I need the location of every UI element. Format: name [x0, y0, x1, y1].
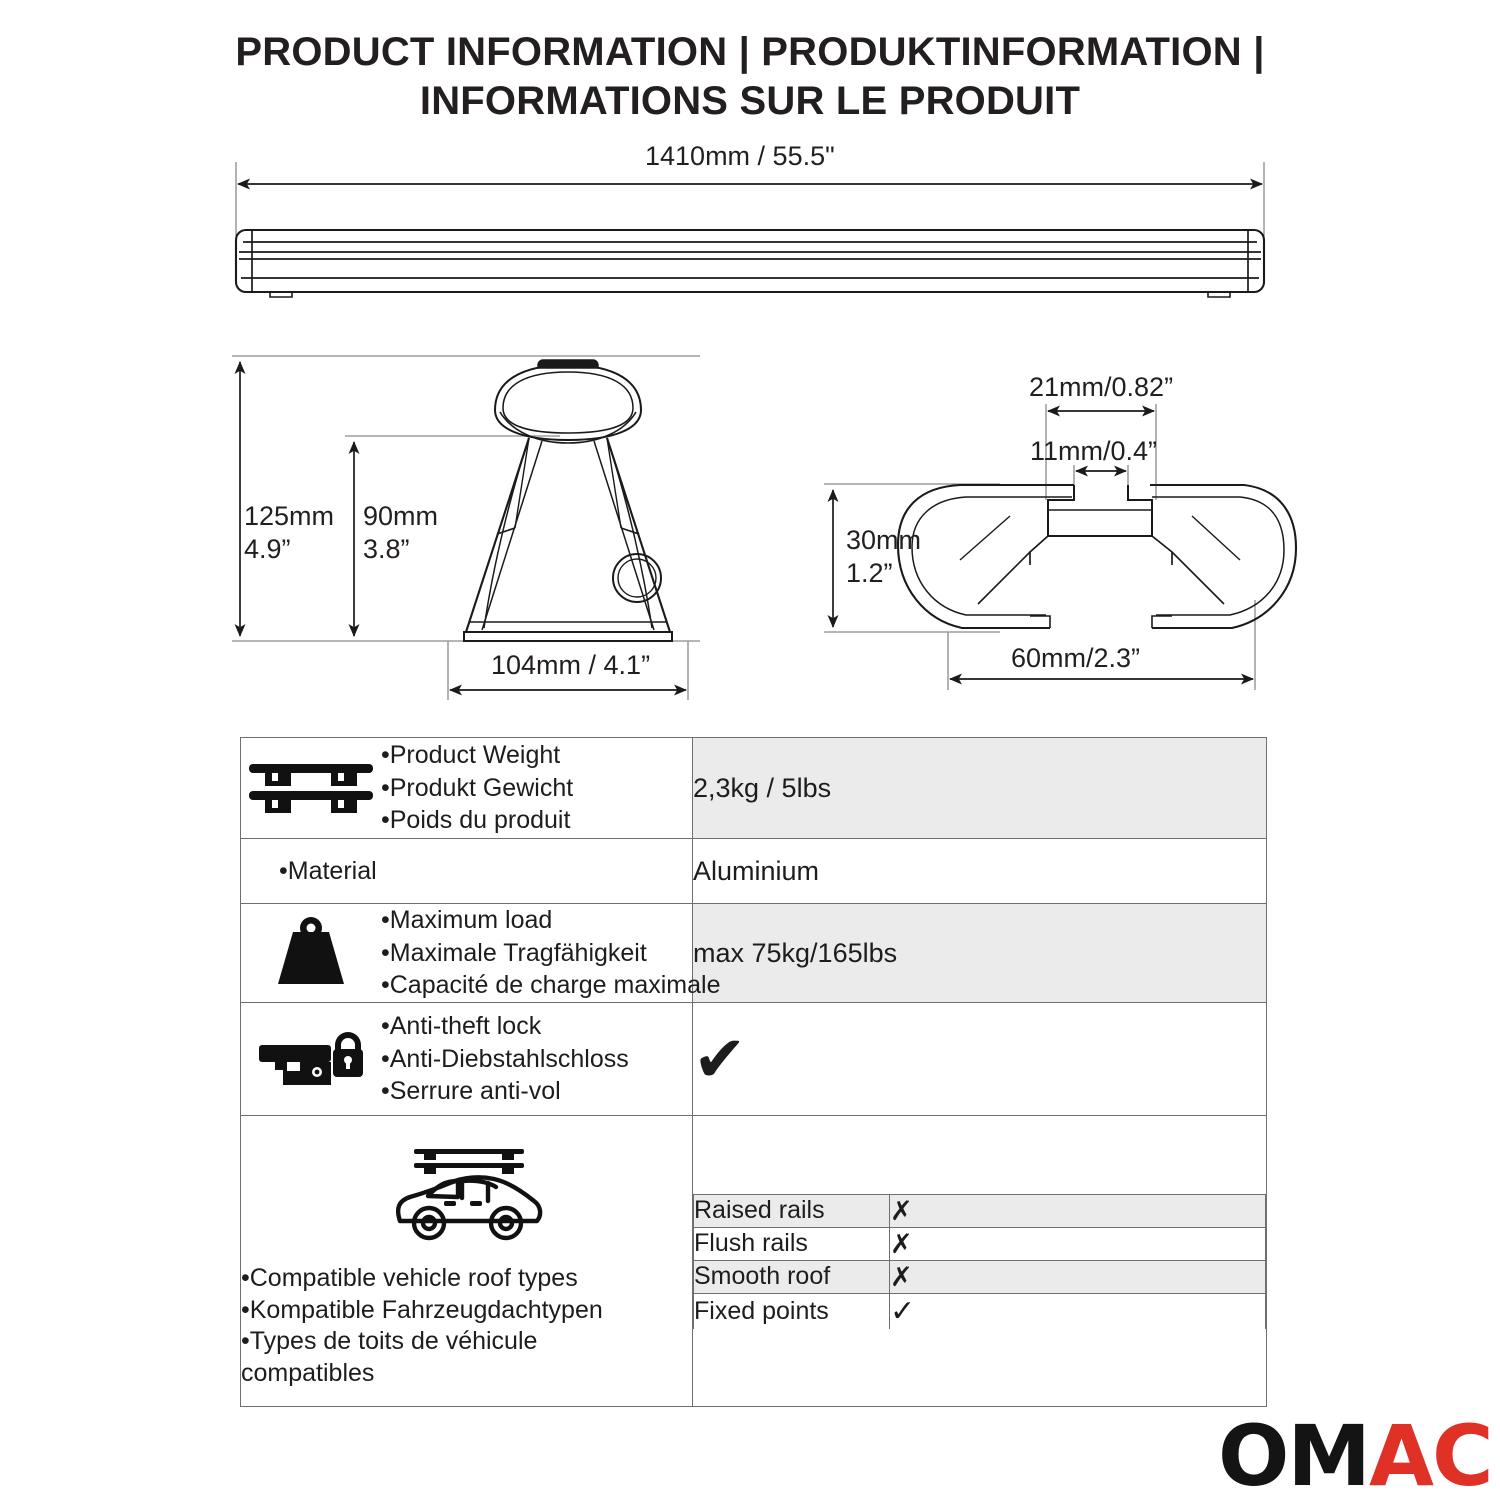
cross-icon: ✗: [890, 1262, 913, 1292]
dim-foot-height-total: 125mm4.9”: [244, 500, 334, 566]
cross-icon: ✗: [890, 1196, 913, 1226]
spec-labels-maxload: •Maximum load •Maximale Tragfähigkeit •C…: [381, 904, 720, 1002]
table-row: •Product Weight •Produkt Gewicht •Poids …: [241, 738, 1267, 839]
cross-icon: ✗: [890, 1229, 913, 1259]
spec-labels-material: •Material: [241, 855, 692, 888]
spec-label-cell-roof-types: •Compatible vehicle roof types •Kompatib…: [241, 1116, 693, 1407]
roof-types-subtable-cell: Raised rails ✗ Flush rails ✗ Smooth roof: [693, 1116, 1267, 1407]
spec-label-de: •Maximale Tragfähigkeit: [381, 937, 720, 970]
spec-label-fr: •Types de toits de véhicule: [241, 1326, 692, 1358]
roof-bars-icon-svg: [245, 758, 377, 818]
spec-value-lock: ✔: [693, 1003, 1267, 1116]
spec-label-fr: •Serrure anti-vol: [381, 1075, 692, 1108]
spec-label-fr: •Capacité de charge maximale: [381, 969, 720, 1002]
spec-label-cell-maxload: •Maximum load •Maximale Tragfähigkeit •C…: [241, 904, 693, 1003]
spec-labels-weight: •Product Weight •Produkt Gewicht •Poids …: [381, 739, 692, 837]
lock-icon-svg: [255, 1025, 367, 1093]
dim-slot-outer: 21mm/0.82”: [1029, 372, 1173, 403]
spec-label-en: •Maximum load: [381, 904, 720, 937]
roof-type-mark: ✗: [890, 1227, 1266, 1260]
spec-labels-lock: •Anti-theft lock •Anti-Diebstahlschloss …: [381, 1010, 692, 1108]
logo-text-dark: OM: [1218, 1407, 1369, 1505]
table-row: •Anti-theft lock •Anti-Diebstahlschloss …: [241, 1003, 1267, 1116]
roof-type-label: Flush rails: [694, 1227, 890, 1260]
omac-logo: OMAC: [1218, 1414, 1492, 1498]
table-row: •Compatible vehicle roof types •Kompatib…: [241, 1116, 1267, 1407]
roof-type-row: Raised rails ✗: [694, 1194, 1266, 1227]
roof-type-label: Raised rails: [694, 1194, 890, 1227]
roof-bars-icon: [241, 758, 381, 818]
roof-type-mark: ✗: [890, 1260, 1266, 1293]
logo-text-red: AC: [1369, 1407, 1492, 1505]
spec-value-weight: 2,3kg / 5lbs: [693, 738, 1267, 839]
roof-type-label: Fixed points: [694, 1293, 890, 1329]
spec-value-material: Aluminium: [693, 839, 1267, 904]
table-row: •Material Aluminium: [241, 839, 1267, 904]
lock-icon: [241, 1025, 381, 1093]
weight-icon: [241, 915, 381, 991]
dim-foot-width: 104mm / 4.1”: [491, 650, 650, 681]
weight-icon-svg: [268, 915, 354, 991]
dim-slot-inner: 11mm/0.4”: [1030, 436, 1157, 467]
spec-label-de: •Kompatible Fahrzeugdachtypen: [241, 1295, 692, 1327]
roof-type-row: Smooth roof ✗: [694, 1260, 1266, 1293]
roof-type-label: Smooth roof: [694, 1260, 890, 1293]
roof-type-row: Fixed points ✓: [694, 1293, 1266, 1329]
spec-label-en: •Material: [279, 855, 692, 888]
dim-profile-width: 60mm/2.3”: [1011, 643, 1140, 674]
spec-labels-roof-types: •Compatible vehicle roof types •Kompatib…: [241, 1263, 692, 1389]
check-icon: ✓: [890, 1295, 915, 1328]
spec-value-maxload: max 75kg/165lbs: [693, 904, 1267, 1003]
table-row: •Maximum load •Maximale Tragfähigkeit •C…: [241, 904, 1267, 1003]
dim-profile-height: 30mm1.2”: [846, 524, 921, 590]
spec-label-en: •Anti-theft lock: [381, 1010, 692, 1043]
spec-label-en: •Compatible vehicle roof types: [241, 1263, 692, 1295]
page-title-line-1: PRODUCT INFORMATION | PRODUKTINFORMATION…: [0, 28, 1500, 77]
roof-type-mark: ✗: [890, 1194, 1266, 1227]
roof-type-row: Flush rails ✗: [694, 1227, 1266, 1260]
spec-label-fr: •Poids du produit: [381, 804, 692, 837]
spec-label-en: •Product Weight: [381, 739, 692, 772]
page-title: PRODUCT INFORMATION | PRODUKTINFORMATION…: [0, 28, 1500, 126]
roof-type-mark: ✓: [890, 1293, 1266, 1329]
car-with-rack-icon: [241, 1133, 692, 1249]
page-title-line-2: INFORMATIONS SUR LE PRODUIT: [0, 77, 1500, 126]
roof-types-table: Raised rails ✗ Flush rails ✗ Smooth roof: [693, 1194, 1266, 1329]
spec-label-cell-material: •Material: [241, 839, 693, 904]
spec-label-fr-cont: compatibles: [241, 1358, 692, 1390]
dim-foot-height-inner: 90mm3.8”: [363, 500, 438, 566]
product-spec-table: •Product Weight •Produkt Gewicht •Poids …: [240, 737, 1267, 1407]
spec-label-cell-weight: •Product Weight •Produkt Gewicht •Poids …: [241, 738, 693, 839]
car-with-rack-icon-svg: [384, 1143, 550, 1249]
dim-bar-length: 1410mm / 55.5": [645, 141, 835, 172]
spec-label-de: •Produkt Gewicht: [381, 772, 692, 805]
check-icon: ✔: [693, 1023, 747, 1095]
spec-label-cell-lock: •Anti-theft lock •Anti-Diebstahlschloss …: [241, 1003, 693, 1116]
spec-label-de: •Anti-Diebstahlschloss: [381, 1043, 692, 1076]
